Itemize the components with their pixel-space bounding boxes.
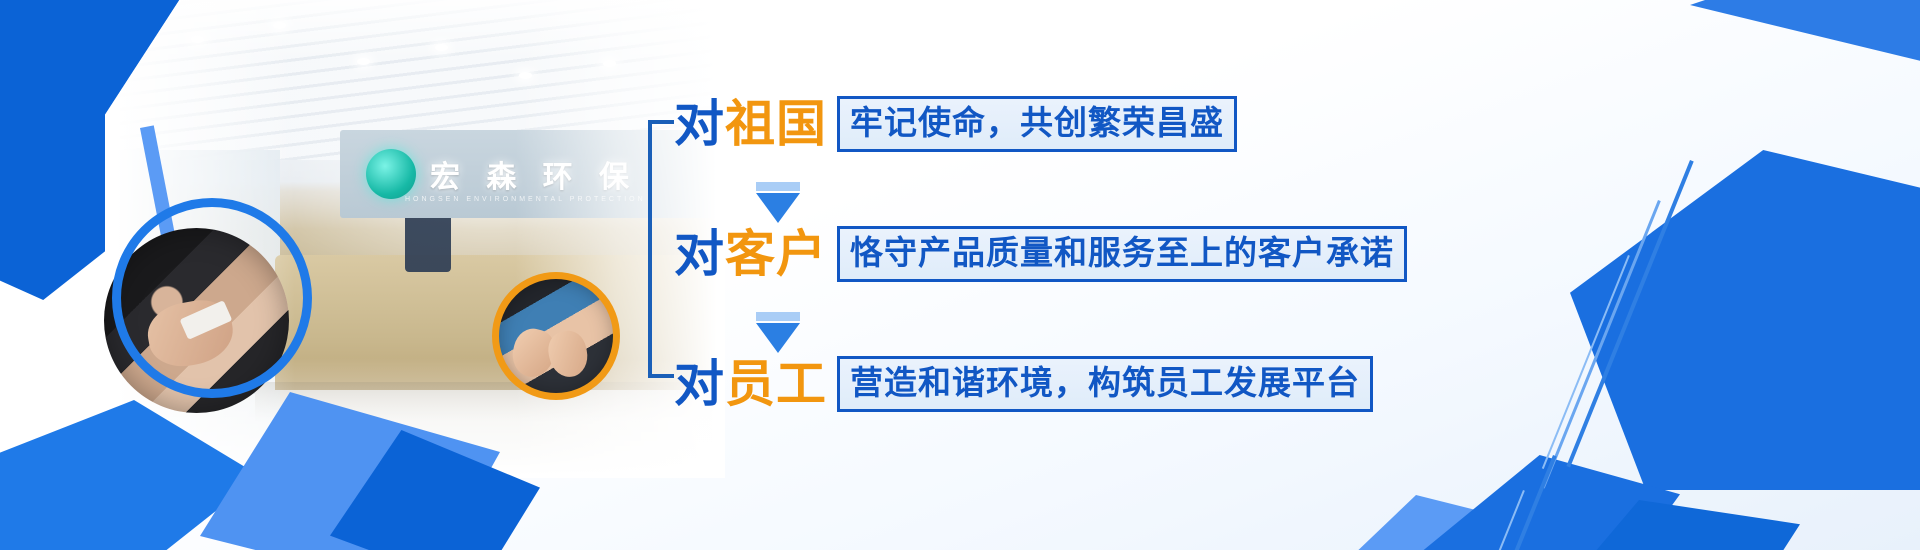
commitment-keyword: 员工 <box>725 355 827 413</box>
applause-photo-ring <box>492 272 620 400</box>
commitment-heading-employee: 对员工 <box>674 359 827 409</box>
commitment-heading-customer: 对客户 <box>674 229 827 279</box>
decorative-shape-right <box>1570 150 1920 490</box>
company-commitment-banner: 宏 森 环 保 HONGSEN ENVIRONMENTAL PROTECTION <box>0 0 1920 550</box>
hongsen-logo-icon <box>366 149 416 199</box>
handshake-photo-ring <box>112 198 312 398</box>
decorative-shape-top-right <box>1690 0 1920 110</box>
commitment-keyword: 客户 <box>725 225 827 283</box>
commitment-row-customer: 对客户 恪守产品质量和服务至上的客户承诺 <box>674 226 1407 282</box>
commitment-description-country: 牢记使命，共创繁荣昌盛 <box>837 96 1237 152</box>
commitment-prefix: 对 <box>674 355 725 413</box>
arrow-triangle <box>756 323 800 353</box>
commitment-description-employee: 营造和谐环境，构筑员工发展平台 <box>837 356 1373 412</box>
commitment-heading-country: 对祖国 <box>674 99 827 149</box>
commitment-prefix: 对 <box>674 95 725 153</box>
commitment-prefix: 对 <box>674 225 725 283</box>
commitment-description-customer: 恪守产品质量和服务至上的客户承诺 <box>837 226 1407 282</box>
commitment-row-country: 对祖国 牢记使命，共创繁荣昌盛 <box>674 96 1237 152</box>
commitment-row-employee: 对员工 营造和谐环境，构筑员工发展平台 <box>674 356 1373 412</box>
commitment-list: 对祖国 牢记使命，共创繁荣昌盛 对客户 恪守产品质量和服务至上的客户承诺 对员工… <box>648 78 1528 408</box>
arrow-cap <box>756 182 800 191</box>
bracket-connector <box>648 120 674 378</box>
down-arrow-icon <box>756 182 800 223</box>
arrow-triangle <box>756 193 800 223</box>
down-arrow-icon <box>756 312 800 353</box>
commitment-keyword: 祖国 <box>725 95 827 153</box>
arrow-cap <box>756 312 800 321</box>
